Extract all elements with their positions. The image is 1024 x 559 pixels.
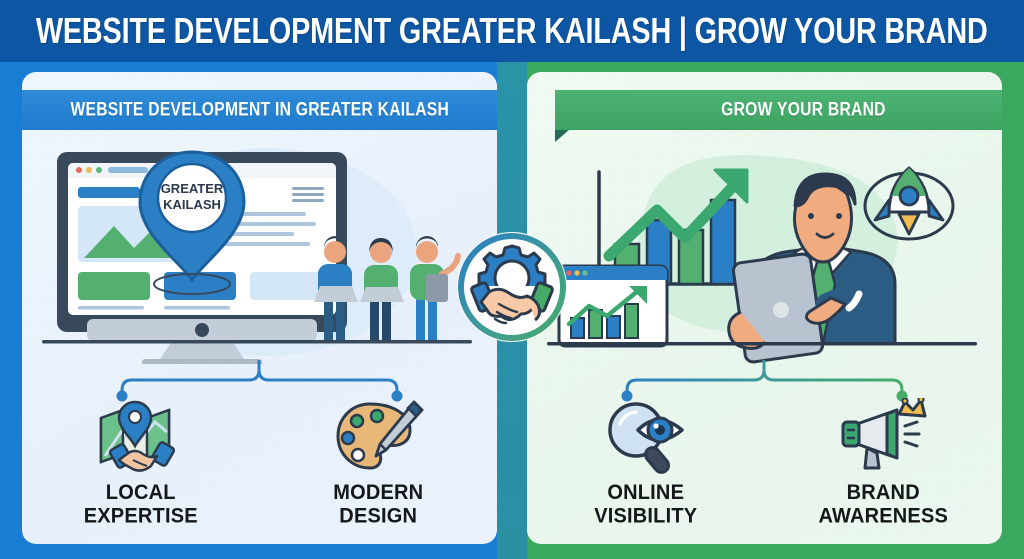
feature-label-line2: DESIGN — [333, 505, 423, 529]
map-pin-label-line1: GREATER — [161, 181, 224, 196]
feature-label-line1: MODERN — [333, 481, 423, 505]
feature-label: ONLINE VISIBILITY — [594, 481, 697, 528]
map-pin-label-line2: KAILASH — [163, 197, 221, 212]
magnifier-eye-icon — [598, 398, 694, 476]
feature-label-line2: EXPERTISE — [84, 505, 198, 529]
page-title: WEBSITE DEVELOPMENT GREATER KAILASH | GR… — [36, 10, 988, 52]
grow-your-brand-illustration — [527, 134, 1002, 364]
right-panel-ribbon: GROW YOUR BRAND — [555, 90, 1002, 130]
ribbon-body: WEBSITE DEVELOPMENT IN GREATER KAILASH — [22, 90, 497, 130]
feature-modern-design[interactable]: MODERN DESIGN — [260, 398, 498, 538]
ribbon-body: GROW YOUR BRAND — [555, 90, 1002, 130]
website-development-illustration: GREATER KAILASH — [22, 134, 497, 364]
feature-label-line1: BRAND — [818, 481, 948, 505]
megaphone-crown-icon — [835, 398, 931, 476]
left-features: LOCAL EXPERTISE MODERN — [22, 398, 497, 538]
right-panel: GROW YOUR BRAND — [527, 72, 1002, 544]
feature-label: LOCAL EXPERTISE — [84, 481, 198, 528]
feature-local-expertise[interactable]: LOCAL EXPERTISE — [22, 398, 260, 538]
left-ribbon-label: WEBSITE DEVELOPMENT IN GREATER KAILASH — [70, 99, 449, 122]
feature-label-line2: AWARENESS — [818, 505, 948, 529]
feature-brand-awareness[interactable]: BRAND AWARENESS — [765, 398, 1003, 538]
left-panel: WEBSITE DEVELOPMENT IN GREATER KAILASH — [22, 72, 497, 544]
feature-label: BRAND AWARENESS — [818, 481, 948, 528]
feature-online-visibility[interactable]: ONLINE VISIBILITY — [527, 398, 765, 538]
gear-handshake-emblem — [455, 230, 569, 344]
feature-label-line2: VISIBILITY — [594, 505, 697, 529]
feature-label: MODERN DESIGN — [333, 481, 423, 528]
right-features: ONLINE VISIBILITY BRAND — [527, 398, 1002, 538]
right-ribbon-label: GROW YOUR BRAND — [721, 99, 886, 122]
feature-label-line1: LOCAL — [84, 481, 198, 505]
feature-label-line1: ONLINE — [594, 481, 697, 505]
map-handshake-icon — [93, 398, 189, 476]
top-banner: WEBSITE DEVELOPMENT GREATER KAILASH | GR… — [0, 0, 1024, 62]
palette-pen-icon — [330, 398, 426, 476]
left-panel-ribbon: WEBSITE DEVELOPMENT IN GREATER KAILASH — [22, 90, 497, 130]
